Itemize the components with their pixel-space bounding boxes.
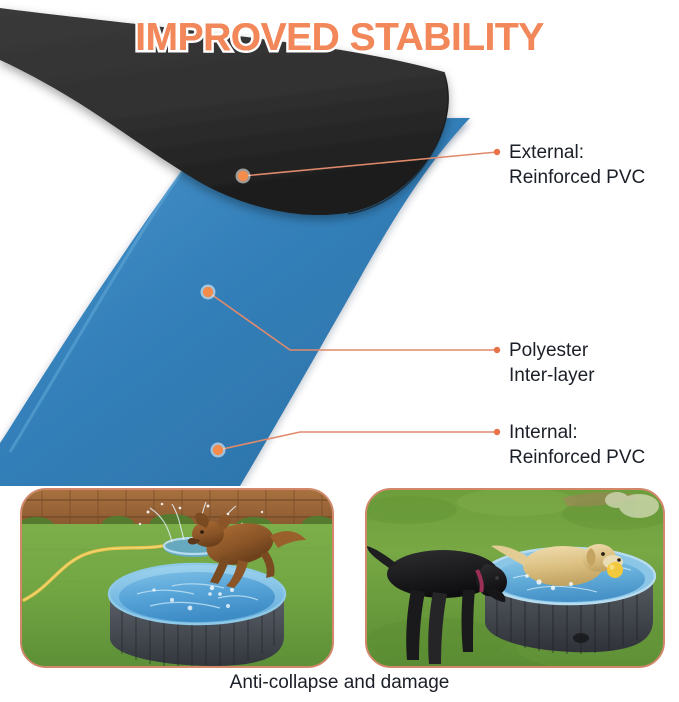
photo-dog-jumping-into-pool xyxy=(20,488,334,668)
callout-external-line2: Reinforced PVC xyxy=(509,165,645,190)
layer-diagram-svg xyxy=(0,0,679,486)
photo-row-caption: Anti-collapse and damage xyxy=(0,672,679,694)
layer-diagram-illustration: IMPROVED STABILITY IMPROVED STABILITY xyxy=(0,0,679,486)
marker-dot-internal xyxy=(213,445,223,455)
callout-polyester: Polyester Inter-layer xyxy=(509,338,595,388)
endpoint-dot-polyester xyxy=(494,347,500,353)
callout-polyester-line2: Inter-layer xyxy=(509,363,595,388)
callout-external: External: Reinforced PVC xyxy=(509,140,645,190)
endpoint-dot-external xyxy=(494,149,500,155)
infographic-root: IMPROVED STABILITY IMPROVED STABILITY Ex… xyxy=(0,0,679,702)
callout-polyester-line1: Polyester xyxy=(509,338,595,363)
callout-internal: Internal: Reinforced PVC xyxy=(509,420,645,470)
callout-external-line1: External: xyxy=(509,140,645,165)
callout-internal-line1: Internal: xyxy=(509,420,645,445)
page-title: IMPROVED STABILITY xyxy=(0,18,679,59)
photo-two-dogs-at-pool xyxy=(365,488,665,668)
marker-dot-polyester xyxy=(203,287,213,297)
endpoint-dot-internal xyxy=(494,429,500,435)
callout-internal-line2: Reinforced PVC xyxy=(509,445,645,470)
marker-dot-external xyxy=(238,171,248,181)
product-photo-row xyxy=(0,488,679,668)
